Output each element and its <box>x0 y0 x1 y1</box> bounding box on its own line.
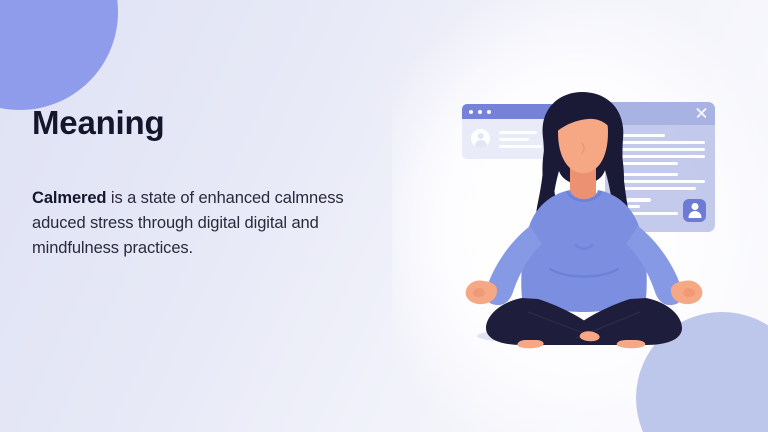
meditation-illustration <box>400 40 768 432</box>
slide-canvas: Meaning Calmered is a state of enhanced … <box>0 0 768 432</box>
body-paragraph: Calmered is a state of enhanced calmness… <box>32 142 350 261</box>
meditating-woman-figure <box>400 40 768 432</box>
text-column: Meaning Calmered is a state of enhanced … <box>32 104 372 261</box>
decorative-circle-top-left <box>0 0 118 110</box>
body-term: Calmered <box>32 189 106 207</box>
page-title: Meaning <box>32 104 372 142</box>
